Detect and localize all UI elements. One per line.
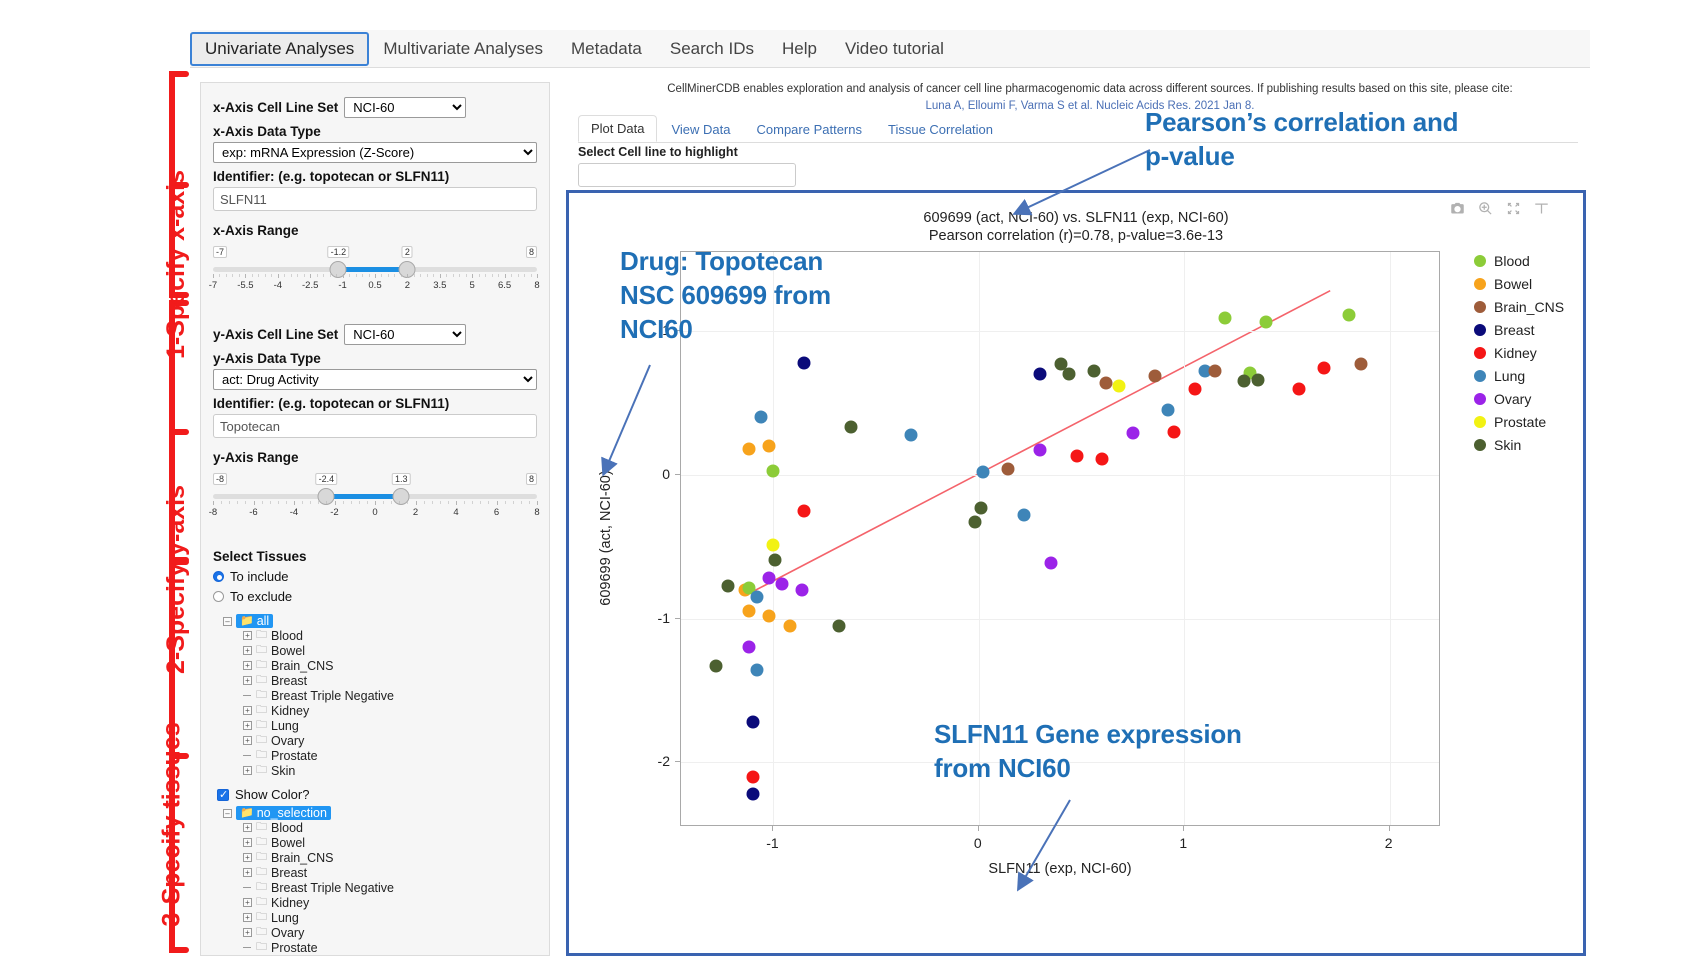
legend-color-swatch xyxy=(1474,416,1486,428)
scatter-point[interactable] xyxy=(1112,379,1125,392)
slider-minor-tick xyxy=(479,274,480,277)
y-range-min-bubble: -8 xyxy=(213,473,227,485)
y-tick-label: -2 xyxy=(644,753,670,769)
legend-item-skin[interactable]: Skin xyxy=(1474,433,1584,456)
slider-tick-label: 3.5 xyxy=(433,280,446,291)
slider-tickmark xyxy=(213,501,214,505)
folder-icon: 🗀 xyxy=(256,735,267,746)
slider-minor-tick xyxy=(521,501,522,504)
legend-color-swatch xyxy=(1474,393,1486,405)
scatter-point[interactable] xyxy=(1209,365,1222,378)
legend-color-swatch xyxy=(1474,255,1486,267)
subtab-tissue-correlation[interactable]: Tissue Correlation xyxy=(876,117,1005,142)
y-datatype-select[interactable]: act: Drug Activity xyxy=(213,369,537,390)
y-tickmark xyxy=(675,474,680,475)
folder-icon: 🗀 xyxy=(256,852,267,863)
leaf-connector-icon xyxy=(243,943,252,952)
folder-icon: 🗀 xyxy=(256,882,267,893)
slider-minor-tick xyxy=(367,501,368,504)
slider-tickmark xyxy=(472,274,473,278)
y-identifier-label: Identifier: (e.g. topotecan or SLFN11) xyxy=(213,396,537,411)
legend-item-lung[interactable]: Lung xyxy=(1474,364,1584,387)
slider-minor-tick xyxy=(480,501,481,504)
subtab-view-data[interactable]: View Data xyxy=(659,117,742,142)
folder-icon: 🗀 xyxy=(256,750,267,761)
cite-text: CellMinerCDB enables exploration and ana… xyxy=(640,83,1540,95)
nav-tab-metadata[interactable]: Metadata xyxy=(557,33,656,65)
tree-root-all-label: all xyxy=(257,614,270,628)
tree-root-no-selection-label: no_selection xyxy=(257,806,327,820)
scatter-point[interactable] xyxy=(1126,427,1139,440)
slider-minor-tick xyxy=(237,501,238,504)
y-datatype-label: y-Axis Data Type xyxy=(213,351,537,366)
slider-minor-tick xyxy=(323,274,324,277)
highlight-cellline-input[interactable] xyxy=(578,163,796,187)
collapse-icon[interactable]: – xyxy=(223,617,232,626)
tree-node-label: Kidney xyxy=(271,704,309,718)
slider-tickmark xyxy=(294,501,295,505)
tree-node-ovary[interactable]: +🗀Ovary xyxy=(243,925,537,940)
tree-node-bowel[interactable]: +🗀Bowel xyxy=(243,643,537,658)
expand-icon[interactable]: + xyxy=(243,838,252,847)
x-cellline-label: x-Axis Cell Line Set xyxy=(213,100,338,115)
scatter-point[interactable] xyxy=(755,411,768,424)
scatter-point[interactable] xyxy=(742,442,755,455)
scatter-point[interactable] xyxy=(746,770,759,783)
slider-minor-tick xyxy=(286,501,287,504)
folder-icon: 🗀 xyxy=(256,912,267,923)
scatter-point[interactable] xyxy=(1161,404,1174,417)
expand-icon[interactable]: + xyxy=(243,631,252,640)
tree-node-skin[interactable]: +🗀Skin xyxy=(243,763,537,778)
tree-node-breast-triple-negative[interactable]: 🗀Breast Triple Negative xyxy=(243,688,537,703)
legend-item-blood[interactable]: Blood xyxy=(1474,249,1584,272)
x-slider-low-value: -1.2 xyxy=(328,246,350,258)
expand-icon[interactable]: + xyxy=(243,721,252,730)
expand-icon[interactable]: + xyxy=(243,868,252,877)
show-color-checkbox[interactable]: Show Color? xyxy=(217,787,537,802)
select-tissues-label: Select Tissues xyxy=(213,549,537,564)
tree-node-breast[interactable]: +🗀Breast xyxy=(243,865,537,880)
subtab-plot-data[interactable]: Plot Data xyxy=(578,115,657,142)
legend-color-swatch xyxy=(1474,370,1486,382)
slider-tickmark xyxy=(375,274,376,278)
tree-node-label: Bowel xyxy=(271,644,305,658)
y-range-max-bubble: 8 xyxy=(526,473,537,485)
slider-minor-tick xyxy=(391,501,392,504)
folder-icon: 🗀 xyxy=(256,897,267,908)
nav-tab-multivariate-analyses[interactable]: Multivariate Analyses xyxy=(369,33,557,65)
tree-node-label: Skin xyxy=(271,764,295,778)
tree-node-label: Brain_CNS xyxy=(271,851,334,865)
scatter-point[interactable] xyxy=(976,465,989,478)
expand-icon[interactable]: + xyxy=(243,898,252,907)
tree-root-all[interactable]: – 📁 all xyxy=(223,614,537,628)
tree-node-label: Prostate xyxy=(271,941,318,955)
radio-to-include[interactable]: To include xyxy=(213,569,537,584)
slider-minor-tick xyxy=(229,501,230,504)
y-cellline-label: y-Axis Cell Line Set xyxy=(213,327,338,342)
leaf-connector-icon xyxy=(243,751,252,760)
subtab-compare-patterns[interactable]: Compare Patterns xyxy=(745,117,875,142)
radio-exclude-icon xyxy=(213,591,224,602)
plot-title-line2: Pearson correlation (r)=0.78, p-value=3.… xyxy=(569,227,1583,245)
slider-minor-tick xyxy=(258,274,259,277)
plot-title: 609699 (act, NCI-60) vs. SLFN11 (exp, NC… xyxy=(569,209,1583,245)
slider-minor-tick xyxy=(349,274,350,277)
legend-label: Blood xyxy=(1494,253,1530,269)
folder-icon: 🗀 xyxy=(256,705,267,716)
slider-minor-tick xyxy=(492,274,493,277)
slider-minor-tick xyxy=(362,274,363,277)
expand-icon[interactable]: + xyxy=(243,823,252,832)
slider-minor-tick xyxy=(297,274,298,277)
tree-node-label: Brain_CNS xyxy=(271,659,334,673)
expand-icon[interactable]: + xyxy=(243,736,252,745)
tree-node-label: Kidney xyxy=(271,896,309,910)
slider-tickmark xyxy=(245,274,246,278)
tree-node-kidney[interactable]: +🗀Kidney xyxy=(243,895,537,910)
radio-to-exclude[interactable]: To exclude xyxy=(213,589,537,604)
slider-minor-tick xyxy=(239,274,240,277)
scatter-point[interactable] xyxy=(1237,375,1250,388)
scatter-point[interactable] xyxy=(1293,382,1306,395)
scatter-point[interactable] xyxy=(796,583,809,596)
tree-node-label: Breast Triple Negative xyxy=(271,689,394,703)
x-slider-high-value: 2 xyxy=(402,246,413,258)
slider-minor-tick xyxy=(310,501,311,504)
slider-minor-tick xyxy=(440,501,441,504)
slider-minor-tick xyxy=(336,274,337,277)
legend-item-prostate[interactable]: Prostate xyxy=(1474,410,1584,433)
gridline-horizontal xyxy=(681,619,1439,620)
tree-node-label: Ovary xyxy=(271,734,304,748)
radio-exclude-label: To exclude xyxy=(230,589,292,604)
x-cellline-select[interactable]: NCI-60 xyxy=(344,97,466,118)
scatter-point[interactable] xyxy=(798,356,811,369)
slider-minor-tick xyxy=(531,274,532,277)
slider-minor-tick xyxy=(359,501,360,504)
scatter-point[interactable] xyxy=(905,428,918,441)
leaf-connector-icon xyxy=(243,691,252,700)
folder-icon: 📁 xyxy=(240,616,254,627)
slider-minor-tick xyxy=(432,501,433,504)
scatter-point[interactable] xyxy=(783,619,796,632)
slider-minor-tick xyxy=(278,501,279,504)
legend-item-brain_cns[interactable]: Brain_CNS xyxy=(1474,295,1584,318)
scatter-point[interactable] xyxy=(1188,382,1201,395)
slider-minor-tick xyxy=(369,274,370,277)
slider-tickmark xyxy=(335,501,336,505)
legend-color-swatch xyxy=(1474,324,1486,336)
legend-label: Kidney xyxy=(1494,345,1537,361)
scatter-point[interactable] xyxy=(1354,358,1367,371)
scatter-point[interactable] xyxy=(833,619,846,632)
nav-tab-video-tutorial[interactable]: Video tutorial xyxy=(831,33,958,65)
x-range-max-bubble: 8 xyxy=(526,246,537,258)
slider-minor-tick xyxy=(513,501,514,504)
slider-minor-tick xyxy=(388,274,389,277)
slider-tick-label: -6 xyxy=(249,507,257,518)
x-slider-ticks: -7-5.5-4-2.5-10.523.556.58 xyxy=(213,274,537,294)
slider-minor-tick xyxy=(226,274,227,277)
legend-color-swatch xyxy=(1474,439,1486,451)
slider-minor-tick xyxy=(232,274,233,277)
gridline-horizontal xyxy=(681,475,1439,476)
scatter-point[interactable] xyxy=(1071,450,1084,463)
scatter-point[interactable] xyxy=(1100,376,1113,389)
y-cellline-row: y-Axis Cell Line Set NCI-60 xyxy=(213,324,537,345)
slider-tick-label: -2 xyxy=(330,507,338,518)
scatter-point[interactable] xyxy=(763,572,776,585)
nav-tab-help[interactable]: Help xyxy=(768,33,831,65)
y-cellline-select[interactable]: NCI-60 xyxy=(344,324,466,345)
slider-tickmark xyxy=(537,274,538,278)
legend-label: Lung xyxy=(1494,368,1525,384)
legend: BloodBowelBrain_CNSBreastKidneyLungOvary… xyxy=(1474,249,1584,456)
nav-tab-search-ids[interactable]: Search IDs xyxy=(656,33,768,65)
y-axis-title: 609699 (act, NCI-60) xyxy=(598,470,614,605)
slider-minor-tick xyxy=(511,274,512,277)
folder-icon: 🗀 xyxy=(256,765,267,776)
tree-node-label: Breast xyxy=(271,674,307,688)
scatter-point[interactable] xyxy=(722,579,735,592)
slider-minor-tick xyxy=(505,501,506,504)
scatter-point[interactable] xyxy=(751,591,764,604)
slider-tickmark xyxy=(416,501,417,505)
tree-node-brain-cns[interactable]: +🗀Brain_CNS xyxy=(243,850,537,865)
scatter-point[interactable] xyxy=(1044,556,1057,569)
tissue-tree-include: – 📁 all +🗀Blood+🗀Bowel+🗀Brain_CNS+🗀Breas… xyxy=(213,614,537,778)
tree-root-no-selection[interactable]: – 📁 no_selection xyxy=(223,806,537,820)
gridline-vertical xyxy=(1390,252,1391,825)
scatter-point[interactable] xyxy=(1055,358,1068,371)
slider-minor-tick xyxy=(219,274,220,277)
y-axis-range-slider[interactable]: -8 8 -2.4 1.3 -8-6-4-202468 xyxy=(213,473,537,525)
x-datatype-select[interactable]: exp: mRNA Expression (Z-Score) xyxy=(213,142,537,163)
legend-label: Breast xyxy=(1494,322,1534,338)
slider-tick-label: -7 xyxy=(209,280,217,291)
slider-tickmark xyxy=(407,274,408,278)
expand-icon[interactable]: + xyxy=(243,706,252,715)
y-identifier-input[interactable] xyxy=(213,414,537,438)
x-tickmark xyxy=(772,826,773,831)
tree-node-label: Breast xyxy=(271,866,307,880)
slider-minor-tick xyxy=(498,274,499,277)
slider-tickmark xyxy=(213,274,214,278)
slider-minor-tick xyxy=(271,274,272,277)
scatter-point[interactable] xyxy=(798,504,811,517)
slider-tick-label: 8 xyxy=(534,280,539,291)
x-tick-label: 1 xyxy=(1179,835,1187,851)
scatter-point[interactable] xyxy=(767,539,780,552)
slider-tick-label: 2 xyxy=(405,280,410,291)
slider-tick-label: -4 xyxy=(290,507,298,518)
x-range-label: x-Axis Range xyxy=(213,223,537,238)
slider-tick-label: 6.5 xyxy=(498,280,511,291)
tissue-tree-exclude: – 📁 no_selection +🗀Blood+🗀Bowel+🗀Brain_C… xyxy=(213,806,537,956)
scatter-point[interactable] xyxy=(1149,369,1162,382)
scatter-point[interactable] xyxy=(1167,425,1180,438)
slider-minor-tick xyxy=(446,274,447,277)
scatter-point[interactable] xyxy=(1260,316,1273,329)
slider-tickmark xyxy=(278,274,279,278)
slider-minor-tick xyxy=(262,501,263,504)
legend-item-kidney[interactable]: Kidney xyxy=(1474,341,1584,364)
scatter-point[interactable] xyxy=(1087,365,1100,378)
legend-item-bowel[interactable]: Bowel xyxy=(1474,272,1584,295)
scatter-point[interactable] xyxy=(1252,373,1265,386)
scatter-point[interactable] xyxy=(1063,368,1076,381)
tree-node-lung[interactable]: +🗀Lung xyxy=(243,910,537,925)
slider-minor-tick xyxy=(464,501,465,504)
legend-item-ovary[interactable]: Ovary xyxy=(1474,387,1584,410)
folder-icon: 🗀 xyxy=(256,660,267,671)
slider-minor-tick xyxy=(356,274,357,277)
x-axis-range-slider[interactable]: -7 8 -1.2 2 -7-5.5-4-2.5-10.523.556.58 xyxy=(213,246,537,298)
scatter-point[interactable] xyxy=(1034,444,1047,457)
legend-label: Bowel xyxy=(1494,276,1532,292)
folder-icon: 🗀 xyxy=(256,942,267,953)
scatter-point[interactable] xyxy=(1096,453,1109,466)
collapse-icon[interactable]: – xyxy=(223,809,232,818)
legend-color-swatch xyxy=(1474,347,1486,359)
folder-icon: 🗀 xyxy=(256,822,267,833)
folder-icon: 📁 xyxy=(240,808,254,819)
folder-icon: 🗀 xyxy=(256,630,267,641)
slider-minor-tick xyxy=(433,274,434,277)
scatter-point[interactable] xyxy=(709,660,722,673)
y-tickmark xyxy=(675,618,680,619)
tree-node-label: Blood xyxy=(271,821,303,835)
scatter-point[interactable] xyxy=(1317,362,1330,375)
x-tickmark xyxy=(1183,826,1184,831)
x-identifier-input[interactable] xyxy=(213,187,537,211)
x-tickmark xyxy=(978,826,979,831)
x-tick-label: -1 xyxy=(766,835,778,851)
slider-minor-tick xyxy=(383,501,384,504)
slider-tick-label: 2 xyxy=(413,507,418,518)
expand-icon[interactable]: + xyxy=(243,661,252,670)
nav-tab-univariate-analyses[interactable]: Univariate Analyses xyxy=(190,32,369,66)
expand-icon[interactable]: + xyxy=(243,853,252,862)
tree-node-brain-cns[interactable]: +🗀Brain_CNS xyxy=(243,658,537,673)
scatter-point[interactable] xyxy=(845,421,858,434)
scatter-point[interactable] xyxy=(767,464,780,477)
expand-icon[interactable]: + xyxy=(243,913,252,922)
expand-icon[interactable]: + xyxy=(243,928,252,937)
scatter-point[interactable] xyxy=(769,553,782,566)
scatter-point[interactable] xyxy=(1034,368,1047,381)
slider-minor-tick xyxy=(394,274,395,277)
tree-root-no-selection-chip[interactable]: 📁 no_selection xyxy=(236,806,331,820)
expand-icon[interactable]: + xyxy=(243,676,252,685)
tree-node-prostate[interactable]: 🗀Prostate xyxy=(243,940,537,955)
scatter-point[interactable] xyxy=(974,501,987,514)
slider-minor-tick xyxy=(401,274,402,277)
scatter-point[interactable] xyxy=(1219,312,1232,325)
slider-tick-label: -8 xyxy=(209,507,217,518)
folder-icon: 🗀 xyxy=(256,675,267,686)
x-tick-label: 2 xyxy=(1385,835,1393,851)
slider-minor-tick xyxy=(399,501,400,504)
annotation-drug: Drug: Topotecan NSC 609699 from NCI60 xyxy=(620,245,880,346)
slider-minor-tick xyxy=(351,501,352,504)
slider-tickmark xyxy=(456,501,457,505)
tree-node-kidney[interactable]: +🗀Kidney xyxy=(243,703,537,718)
tree-node-breast[interactable]: +🗀Breast xyxy=(243,673,537,688)
slider-minor-tick xyxy=(427,274,428,277)
annotation-pearson: Pearson’s correlation and p-value xyxy=(1145,106,1475,174)
scatter-point[interactable] xyxy=(775,578,788,591)
slider-minor-tick xyxy=(448,501,449,504)
tree-node-ovary[interactable]: +🗀Ovary xyxy=(243,733,537,748)
scatter-point[interactable] xyxy=(751,664,764,677)
tree-root-all-chip[interactable]: 📁 all xyxy=(236,614,273,628)
tree-node-prostate[interactable]: 🗀Prostate xyxy=(243,748,537,763)
tree-node-blood[interactable]: +🗀Blood xyxy=(243,820,537,835)
y-tickmark xyxy=(675,761,680,762)
slider-tick-label: 4 xyxy=(453,507,458,518)
x-tickmark xyxy=(1389,826,1390,831)
slider-minor-tick xyxy=(326,501,327,504)
leaf-connector-icon xyxy=(243,883,252,892)
slider-minor-tick xyxy=(453,274,454,277)
slider-minor-tick xyxy=(265,274,266,277)
legend-label: Skin xyxy=(1494,437,1521,453)
slider-minor-tick xyxy=(317,274,318,277)
tree-node-blood[interactable]: +🗀Blood xyxy=(243,628,537,643)
slider-minor-tick xyxy=(330,274,331,277)
x-slider-fill xyxy=(338,267,407,272)
tree-node-label: Lung xyxy=(271,911,299,925)
legend-item-breast[interactable]: Breast xyxy=(1474,318,1584,341)
slider-tickmark xyxy=(440,274,441,278)
control-panel: x-Axis Cell Line Set NCI-60 x-Axis Data … xyxy=(200,82,550,956)
highlight-label: Select Cell line to highlight xyxy=(578,145,738,159)
slider-tick-label: -4 xyxy=(274,280,282,291)
scatter-point[interactable] xyxy=(742,641,755,654)
scatter-point[interactable] xyxy=(742,605,755,618)
slider-tickmark xyxy=(497,501,498,505)
checkbox-icon xyxy=(217,789,229,801)
expand-icon[interactable]: + xyxy=(243,646,252,655)
scatter-point[interactable] xyxy=(1018,509,1031,522)
slider-tick-label: 6 xyxy=(494,507,499,518)
slider-tick-label: 8 xyxy=(534,507,539,518)
scatter-point[interactable] xyxy=(763,440,776,453)
scatter-point[interactable] xyxy=(1342,309,1355,322)
scatter-point[interactable] xyxy=(763,609,776,622)
scatter-point[interactable] xyxy=(746,787,759,800)
x-datatype-label: x-Axis Data Type xyxy=(213,124,537,139)
radio-include-label: To include xyxy=(230,569,289,584)
folder-icon: 🗀 xyxy=(256,927,267,938)
tree-node-bowel[interactable]: +🗀Bowel xyxy=(243,835,537,850)
tree-node-label: Bowel xyxy=(271,836,305,850)
scatter-point[interactable] xyxy=(1001,463,1014,476)
slider-minor-tick xyxy=(381,274,382,277)
tree-node-breast-triple-negative[interactable]: 🗀Breast Triple Negative xyxy=(243,880,537,895)
expand-icon[interactable]: + xyxy=(243,766,252,775)
annotation-slfn11: SLFN11 Gene expression from NCI60 xyxy=(934,718,1264,786)
scatter-point[interactable] xyxy=(968,516,981,529)
step1-label: 1-Specify x-axis xyxy=(162,170,191,359)
scatter-point[interactable] xyxy=(746,716,759,729)
tree-node-lung[interactable]: +🗀Lung xyxy=(243,718,537,733)
slider-tickmark xyxy=(343,274,344,278)
tree-node-label: Prostate xyxy=(271,749,318,763)
